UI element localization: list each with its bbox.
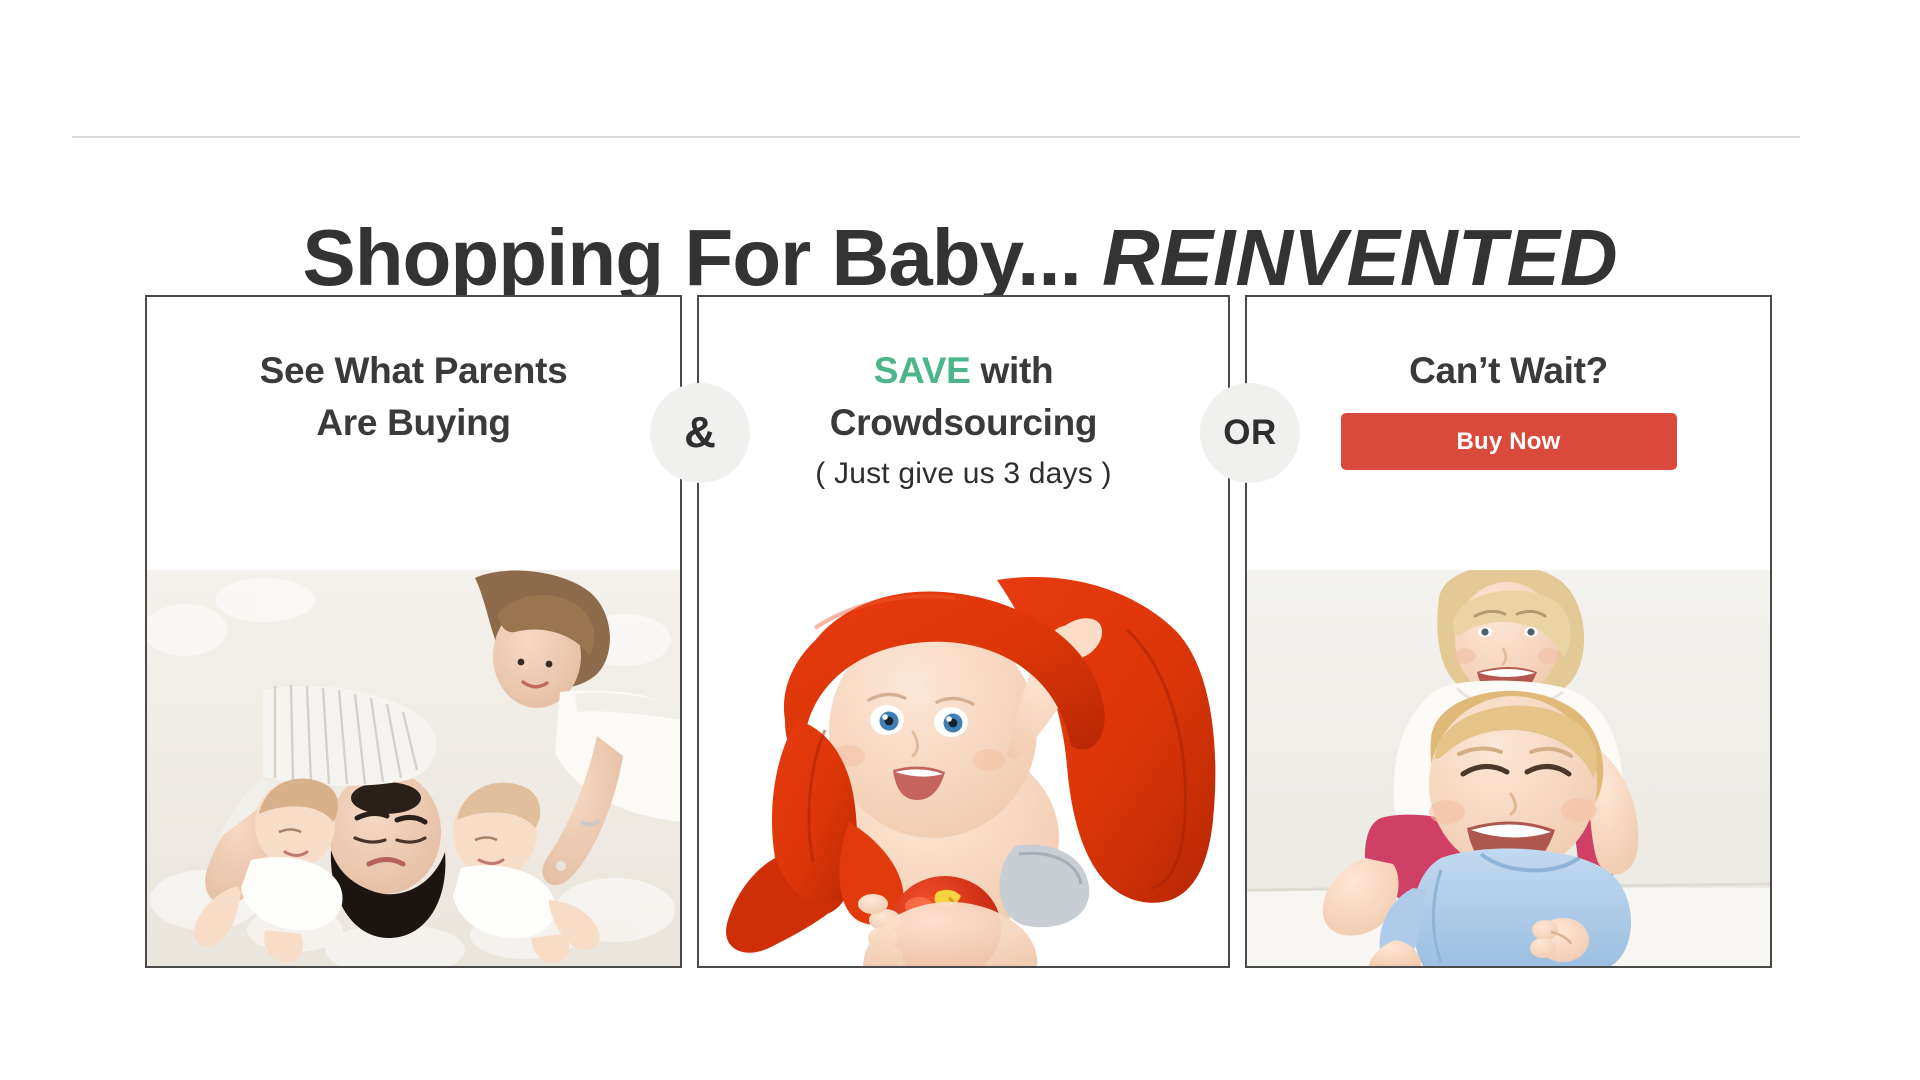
panel-2-title-rest: with bbox=[971, 350, 1054, 391]
steps-row: See What Parents Are Buying bbox=[145, 295, 1772, 968]
panel-2-photo bbox=[699, 570, 1228, 966]
or-badge: OR bbox=[1200, 383, 1300, 483]
panel-1-photo bbox=[147, 570, 680, 966]
panel-3-title: Can’t Wait? bbox=[1409, 345, 1608, 397]
panel-1-title-line-2: Are Buying bbox=[316, 402, 510, 443]
top-divider bbox=[72, 136, 1800, 138]
or-badge-label: OR bbox=[1223, 413, 1277, 453]
panel-2-header: SAVE with Crowdsourcing ( Just give us 3… bbox=[699, 297, 1228, 572]
panel-3-photo bbox=[1247, 570, 1770, 966]
page-title: Shopping For Baby... REINVENTED bbox=[0, 212, 1920, 304]
panel-1-title-line-1: See What Parents bbox=[260, 350, 568, 391]
panel-2-title-line-2: Crowdsourcing bbox=[830, 402, 1097, 443]
panel-see-what-parents-are-buying[interactable]: See What Parents Are Buying bbox=[145, 295, 682, 968]
panel-save-with-crowdsourcing[interactable]: SAVE with Crowdsourcing ( Just give us 3… bbox=[697, 295, 1230, 968]
and-badge-label: & bbox=[684, 408, 716, 458]
page-title-plain: Shopping For Baby... bbox=[302, 213, 1102, 302]
panel-1-header: See What Parents Are Buying bbox=[147, 297, 680, 572]
panel-2-subtitle: ( Just give us 3 days ) bbox=[815, 455, 1111, 493]
panel-2-title-highlight: SAVE bbox=[874, 350, 971, 391]
page-title-emphasis: REINVENTED bbox=[1102, 213, 1618, 302]
buy-now-button[interactable]: Buy Now bbox=[1341, 413, 1677, 470]
panel-cant-wait[interactable]: Can’t Wait? Buy Now bbox=[1245, 295, 1772, 968]
panel-1-title: See What Parents Are Buying bbox=[260, 345, 568, 449]
panel-3-header: Can’t Wait? Buy Now bbox=[1247, 297, 1770, 572]
and-badge: & bbox=[650, 383, 750, 483]
panel-2-title: SAVE with Crowdsourcing bbox=[830, 345, 1097, 449]
